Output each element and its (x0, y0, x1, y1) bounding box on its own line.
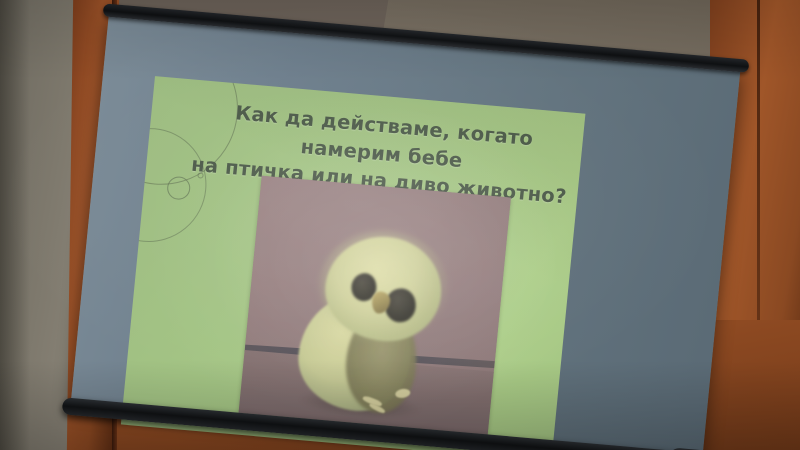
owlet-claw-3 (395, 388, 411, 399)
decorative-small-ring-icon (166, 176, 191, 201)
owlet (290, 228, 457, 418)
owlet-photo (239, 176, 511, 435)
room-photograph: Как да действаме, когато намерим бебе на… (0, 0, 800, 450)
screen-surface: Как да действаме, когато намерим бебе на… (71, 16, 741, 450)
projection-screen: Как да действаме, когато намерим бебе на… (66, 0, 749, 450)
left-wall-shadow (0, 0, 30, 450)
presentation-slide: Как да действаме, когато намерим бебе на… (121, 76, 586, 450)
